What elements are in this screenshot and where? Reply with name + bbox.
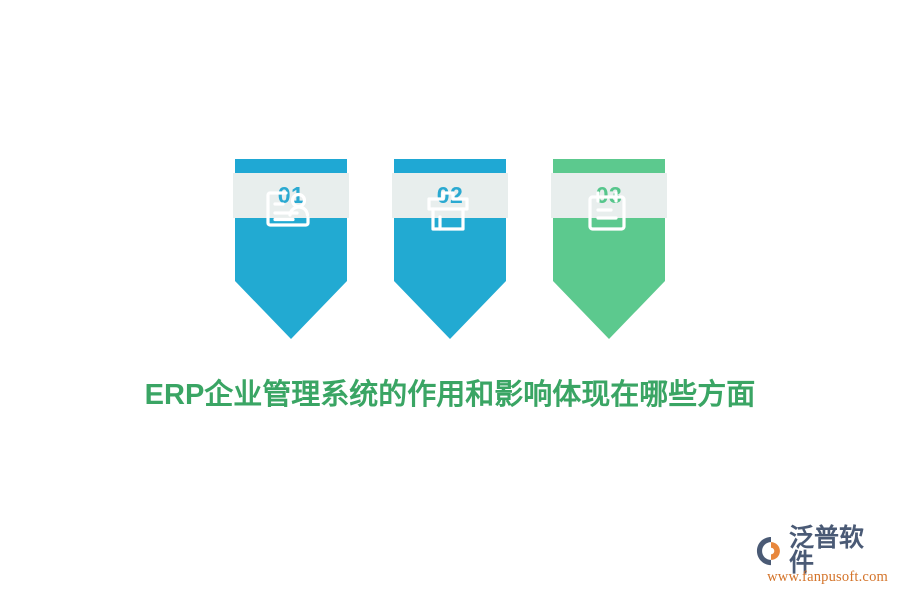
banner-row: 01 [0, 159, 900, 341]
banner-item-02[interactable]: 02 [392, 159, 508, 339]
infographic-canvas: 01 [0, 0, 900, 600]
banner-top-band [394, 159, 506, 173]
calendar-note-icon [587, 191, 627, 231]
page-title: ERP企业管理系统的作用和影响体现在哪些方面 [0, 371, 900, 413]
brand-logo[interactable]: 泛普软件 www.fanpusoft.com [756, 534, 888, 592]
banner-icon-slot [233, 191, 345, 229]
banner-icon-slot [392, 191, 504, 231]
banner-icon-slot [551, 191, 663, 231]
banner-top-band [235, 159, 347, 173]
id-card-person-icon [266, 191, 312, 229]
store-building-icon [427, 191, 469, 231]
fanpu-swoosh-logo-icon [756, 536, 786, 566]
logo-lockup: 泛普软件 [756, 534, 888, 568]
logo-url: www.fanpusoft.com [756, 569, 888, 586]
banner-item-01[interactable]: 01 [233, 159, 349, 339]
banner-item-03[interactable]: 03 [551, 159, 667, 339]
banner-top-band [553, 159, 665, 173]
